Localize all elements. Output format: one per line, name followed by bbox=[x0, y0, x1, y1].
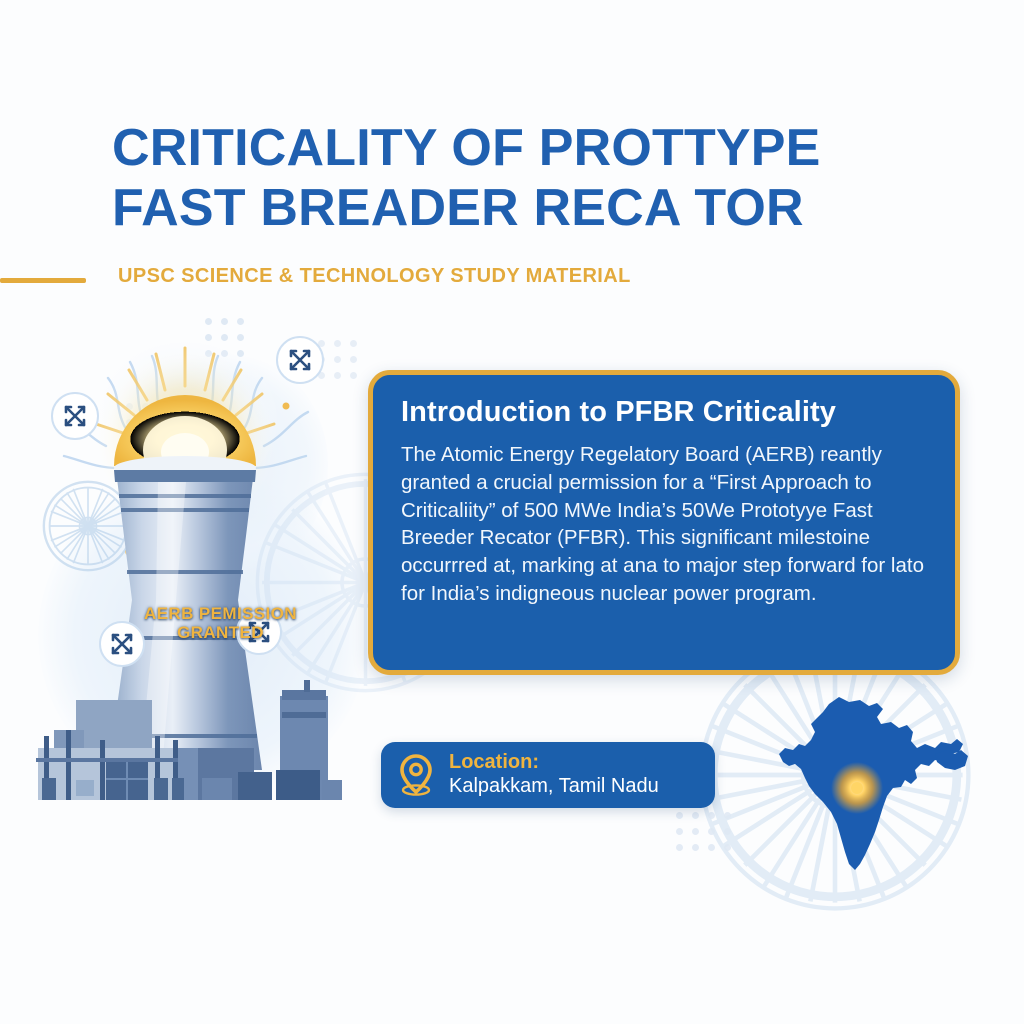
dot-grid-below-location bbox=[676, 812, 731, 851]
location-card[interactable]: Location: Kalpakkam, Tamil Nadu bbox=[381, 742, 715, 808]
india-map bbox=[765, 692, 987, 872]
title-line-1: CRITICALITY OF PROTTYPE bbox=[112, 118, 952, 178]
page-title: CRITICALITY OF PROTTYPE FAST BREADER REC… bbox=[112, 118, 952, 239]
location-value: Kalpakkam, Tamil Nadu bbox=[449, 775, 659, 799]
location-text: Location: Kalpakkam, Tamil Nadu bbox=[449, 751, 659, 798]
aerb-badge-line-2: GRANTED bbox=[177, 623, 264, 642]
page-subtitle: UPSC SCIENCE & TECHNOLOGY STUDY MATERIAL bbox=[118, 265, 631, 288]
location-label: Location: bbox=[449, 751, 659, 775]
title-accent-rule bbox=[0, 278, 86, 283]
aerb-badge-line-1: AERB PEMISSION bbox=[144, 604, 297, 623]
aerb-permission-badge: AERB PEMISSION GRANTED bbox=[113, 604, 328, 643]
infographic-canvas: CRITICALITY OF PROTTYPE FAST BREADER REC… bbox=[0, 0, 1024, 1024]
nuclear-plant-illustration bbox=[10, 300, 380, 860]
intro-card-title: Introduction to PFBR Criticality bbox=[401, 395, 929, 430]
intro-card: Introduction to PFBR Criticality The Ato… bbox=[368, 370, 960, 675]
intro-card-body: The Atomic Energy Regelatory Board (AERB… bbox=[401, 441, 929, 608]
map-pin-icon bbox=[399, 754, 433, 796]
title-line-2: FAST BREADER RECA TOR bbox=[112, 178, 952, 238]
